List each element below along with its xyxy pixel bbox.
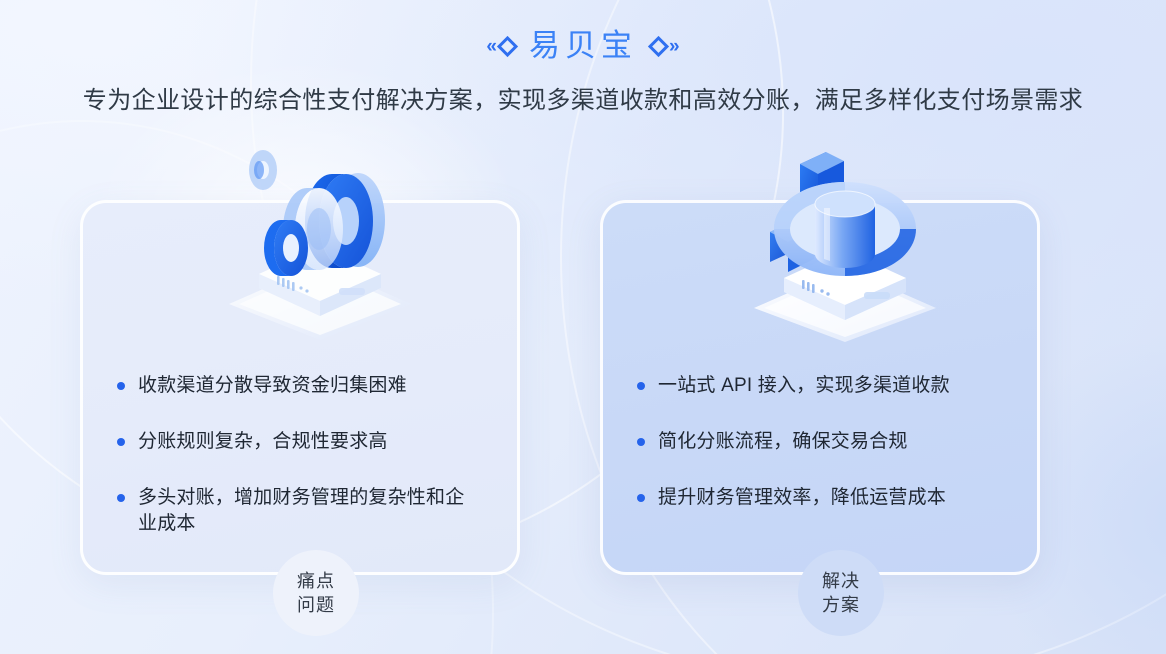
solutions-badge: 解决 方案 <box>798 550 884 636</box>
list-item: 收款渠道分散导致资金归集困难 <box>117 373 483 399</box>
ornament-right: » <box>651 37 680 56</box>
badge-line-1: 痛点 <box>297 569 335 593</box>
diamond-left-icon <box>497 35 518 56</box>
header: « 易贝宝 » 专为企业设计的综合性支付解决方案，实现多渠道收款和高效分账，满足… <box>0 0 1166 118</box>
pain-points-bullet-list: 收款渠道分散导致资金归集困难 分账规则复杂，合规性要求高 多头对账，增加财务管理… <box>83 373 517 537</box>
slide-canvas: « 易贝宝 » 专为企业设计的综合性支付解决方案，实现多渠道收款和高效分账，满足… <box>0 0 1166 654</box>
bullet-dot-icon <box>117 438 125 446</box>
badge-line-1: 解决 <box>822 569 860 593</box>
title-row: « 易贝宝 » <box>0 24 1166 68</box>
pain-points-badge: 痛点 问题 <box>273 550 359 636</box>
list-item: 简化分账流程，确保交易合规 <box>637 429 1003 455</box>
bullet-dot-icon <box>117 494 125 502</box>
list-item: 一站式 API 接入，实现多渠道收款 <box>637 373 1003 399</box>
list-item-label: 简化分账流程，确保交易合规 <box>658 429 908 455</box>
list-item: 提升财务管理效率，降低运营成本 <box>637 485 1003 511</box>
badge-line-2: 方案 <box>822 593 860 617</box>
page-title: 易贝宝 <box>529 24 637 68</box>
list-item: 分账规则复杂，合规性要求高 <box>117 429 483 455</box>
list-item-label: 一站式 API 接入，实现多渠道收款 <box>658 373 950 399</box>
list-item-label: 提升财务管理效率，降低运营成本 <box>658 485 946 511</box>
bullet-dot-icon <box>637 382 645 390</box>
list-item-label: 收款渠道分散导致资金归集困难 <box>138 373 407 399</box>
solutions-bullet-list: 一站式 API 接入，实现多渠道收款 简化分账流程，确保交易合规 提升财务管理效… <box>603 373 1037 511</box>
list-item-label: 多头对账，增加财务管理的复杂性和企业成本 <box>138 485 483 537</box>
ornament-left: « <box>486 37 515 56</box>
coin-cylinder-3d-icon <box>740 128 950 343</box>
list-item-label: 分账规则复杂，合规性要求高 <box>138 429 388 455</box>
concentric-rings-3d-icon <box>215 128 425 343</box>
bullet-dot-icon <box>637 438 645 446</box>
list-item: 多头对账，增加财务管理的复杂性和企业成本 <box>117 485 483 537</box>
bullet-dot-icon <box>637 494 645 502</box>
badge-line-2: 问题 <box>297 593 335 617</box>
chevron-right-icon: » <box>669 37 680 56</box>
bullet-dot-icon <box>117 382 125 390</box>
diamond-right-icon <box>648 35 669 56</box>
page-subtitle: 专为企业设计的综合性支付解决方案，实现多渠道收款和高效分账，满足多样化支付场景需… <box>0 84 1166 118</box>
